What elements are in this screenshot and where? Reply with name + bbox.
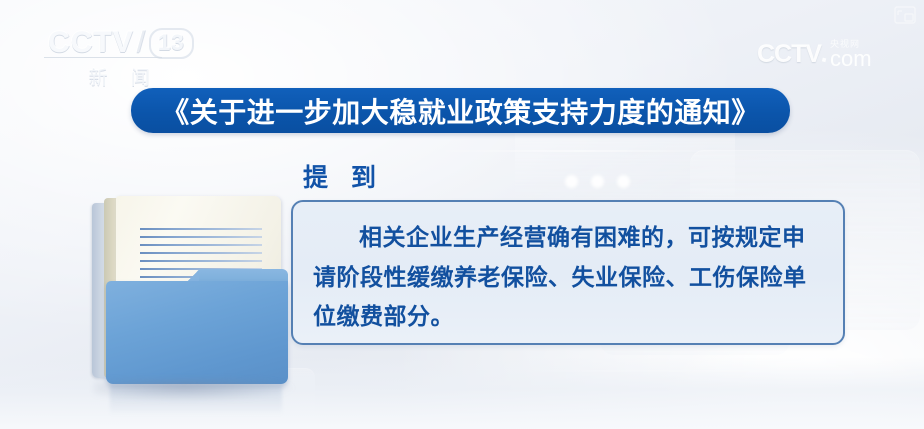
bg-dot (617, 175, 630, 188)
cctv-logo-wordmark: CCTV / 13 (48, 26, 194, 60)
folder-front-panel (106, 281, 288, 384)
cctv-com-watermark: CCTV . 央视网 com (757, 40, 872, 70)
cctv13-channel-logo: CCTV / 13 新 闻 (48, 26, 194, 90)
bg-dot (591, 175, 604, 188)
paper-line (140, 236, 262, 238)
mention-label: 提 到 (303, 158, 384, 194)
cctv-logo-subtitle: 新 闻 (48, 63, 194, 90)
cctv-channel-number: 13 (149, 28, 193, 59)
document-folder-illustration (90, 193, 305, 393)
headline-title: 《关于进一步加大稳就业政策支持力度的通知》 (161, 91, 760, 131)
paper-line (140, 260, 262, 262)
broadcast-screen: CCTV / 13 新 闻 CCTV . 央视网 com 《关于进一步加大稳就业… (0, 0, 924, 429)
cctv-logo-slash: / (137, 26, 146, 60)
bg-light-streak (500, 370, 924, 372)
bg-light-streak (430, 150, 730, 152)
folder-reflection (110, 385, 282, 421)
quote-text: 相关企业生产经营确有困难的，可按规定申请阶段性缓缴养老保险、失业保险、工伤保险单… (313, 218, 823, 337)
watermark-domain: com (830, 48, 872, 70)
watermark-brand: CCTV (757, 40, 821, 69)
watermark-right-group: 央视网 com (830, 40, 872, 70)
quote-content-box: 相关企业生产经营确有困难的，可按规定申请阶段性缓缴养老保险、失业保险、工伤保险单… (291, 200, 845, 345)
bg-dot (565, 175, 578, 188)
picture-in-picture-icon (894, 6, 916, 24)
cctv-logo-text: CCTV (48, 26, 134, 60)
bg-dots-decoration (565, 175, 630, 188)
paper-line (140, 252, 262, 254)
paper-line (140, 244, 262, 246)
headline-banner: 《关于进一步加大稳就业政策支持力度的通知》 (131, 88, 790, 133)
logo-divider (44, 57, 162, 58)
paper-line (140, 228, 262, 230)
